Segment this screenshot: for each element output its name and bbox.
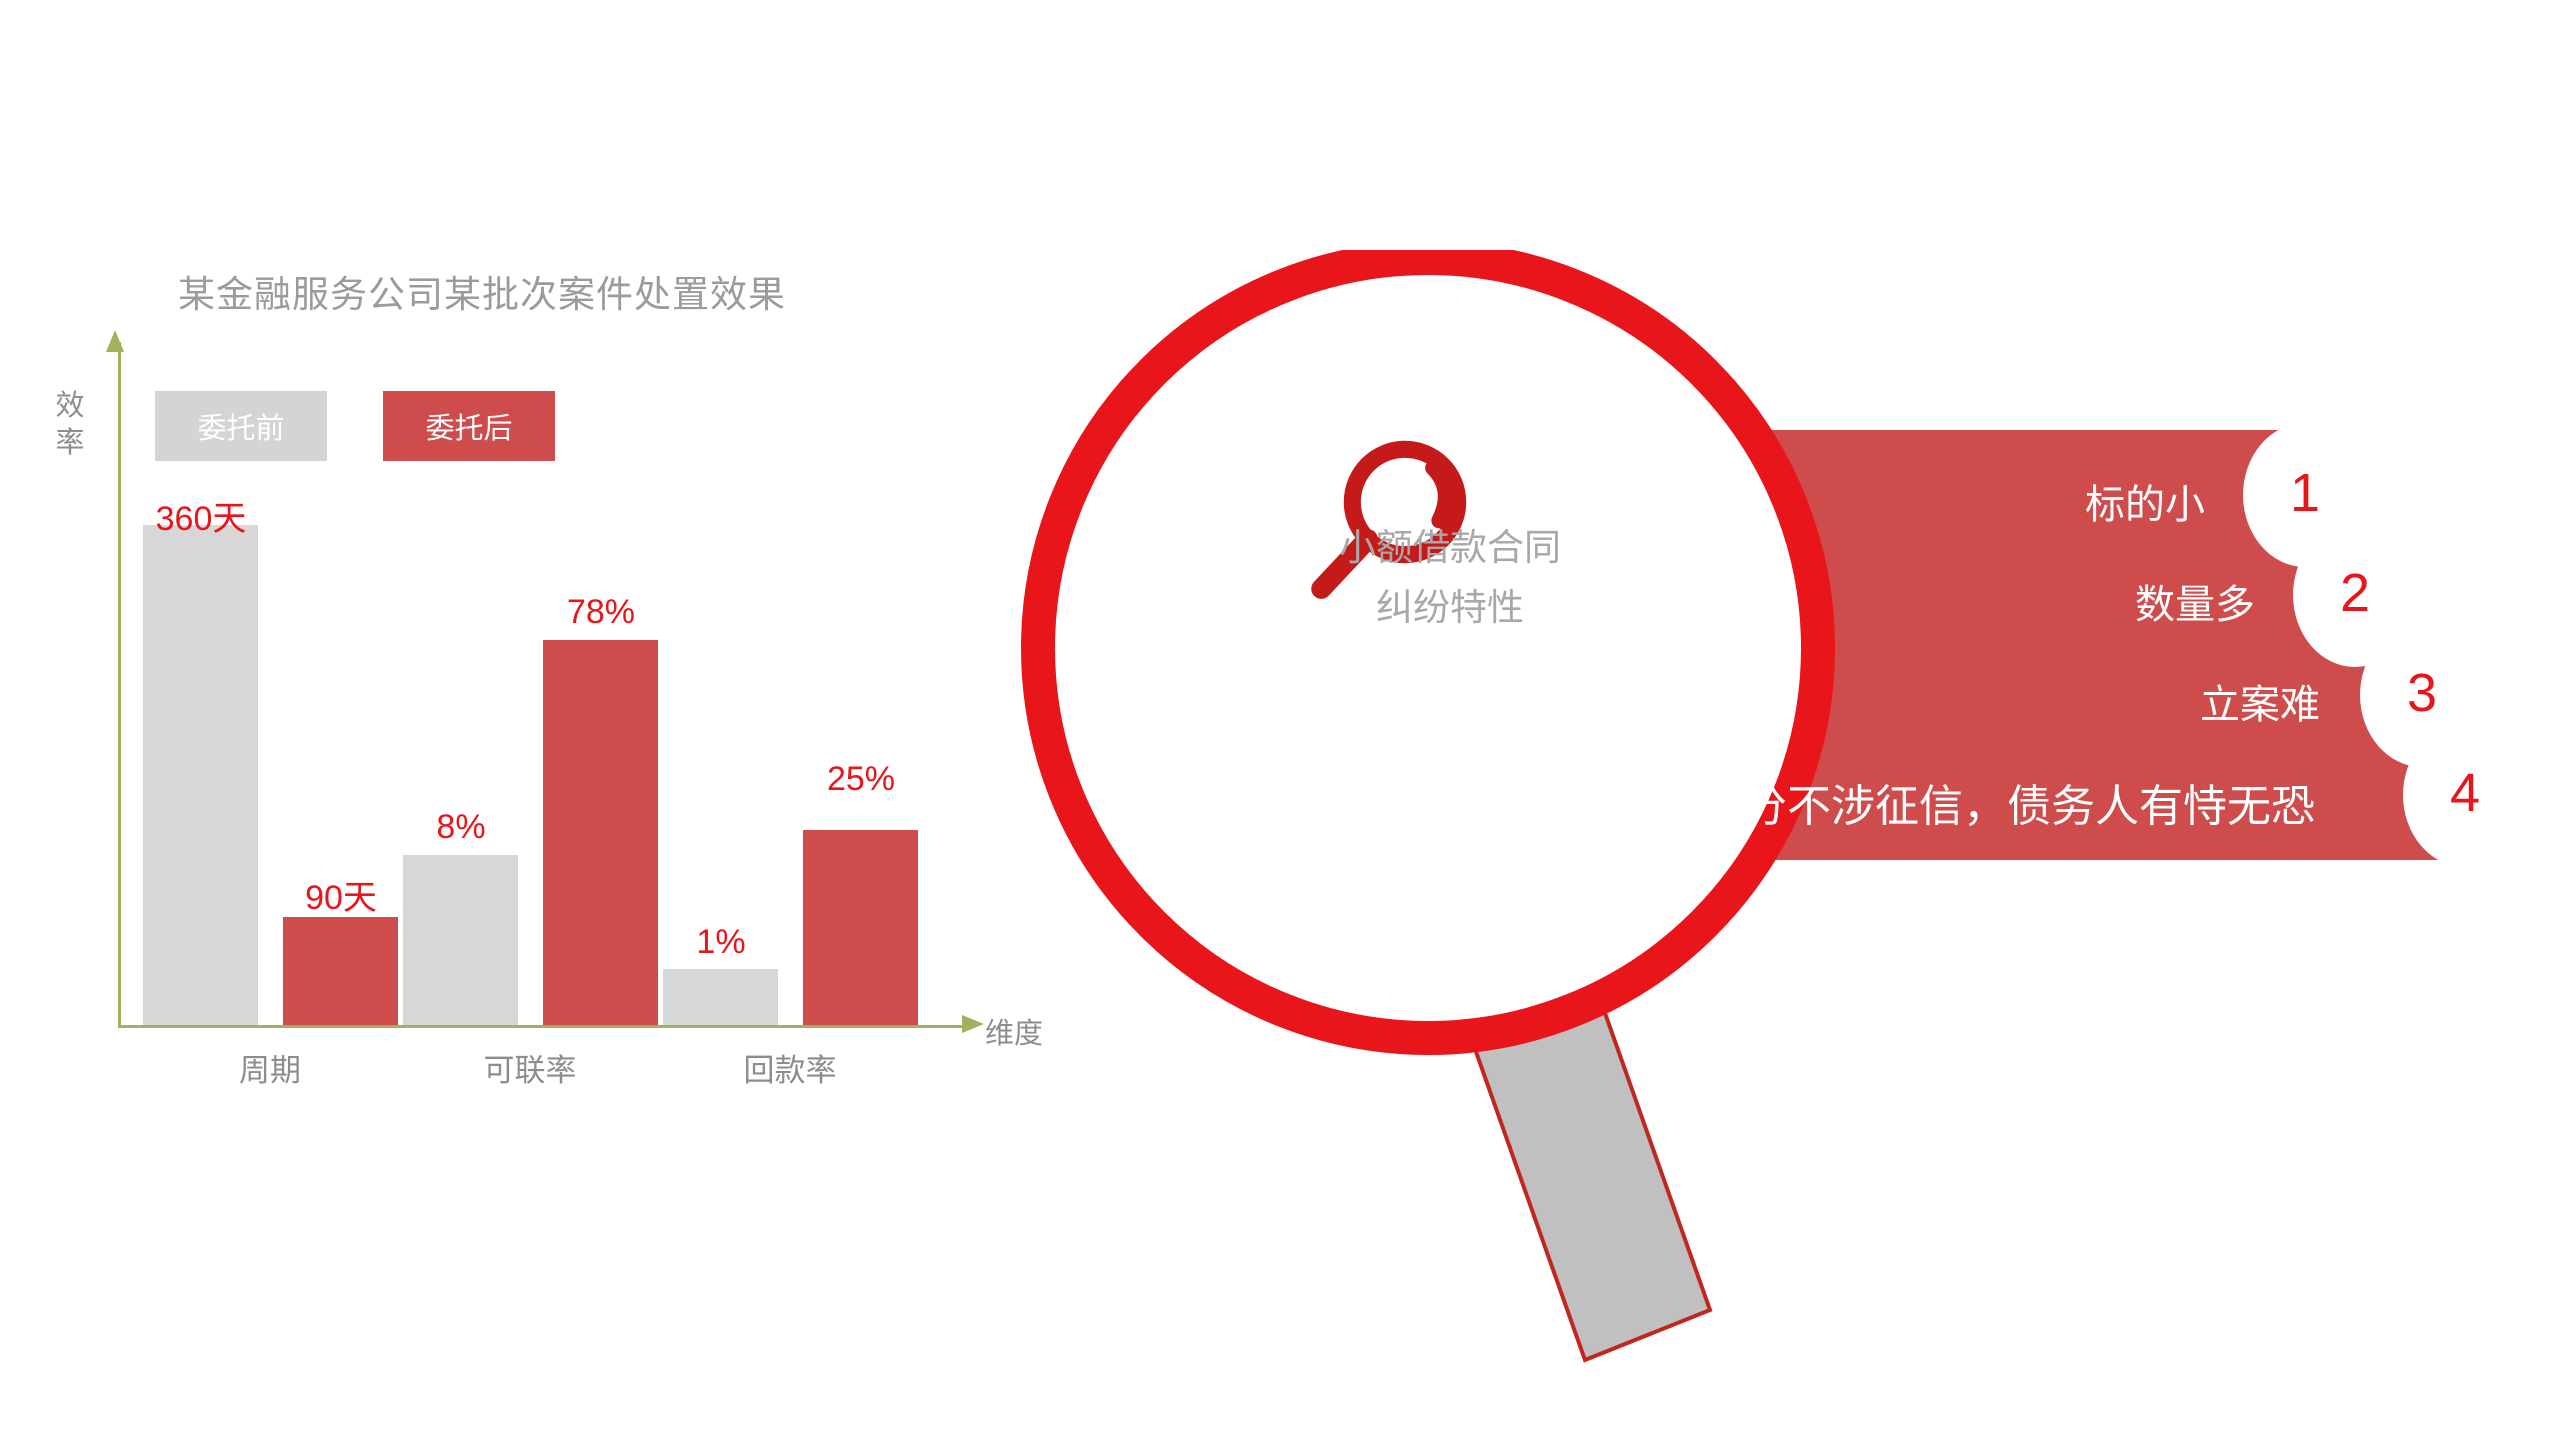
bar-after-0 [283,917,398,1025]
bar-before-1 [403,855,518,1025]
bar-after-1 [543,640,658,1025]
magnifier-diagram-panel: 小额借款合同 纠纷特性 标的小 1 数量多 2 立案难 3 大部分不涉征信，债务… [1010,250,2560,1440]
slide-canvas: 某金融服务公司某批次案件处置效果 效率 维度 委托前 委托后 360天 90天 … [0,0,2560,1440]
bar-chart-panel: 某金融服务公司某批次案件处置效果 效率 维度 委托前 委托后 360天 90天 … [0,0,1120,1180]
ribbon-label-4: 大部分不涉征信，债务人有恃无恐 [1655,770,2315,834]
ribbon-number-3: 3 [2382,662,2462,724]
magnifier-caption-line2: 纠纷特性 [1205,578,1695,638]
bar-label-before-0: 360天 [126,491,276,540]
y-axis-label: 效率 [52,388,88,462]
bar-label-before-2: 1% [646,923,796,962]
x-tick-label-1: 可联率 [455,1045,605,1090]
ribbon-number-2: 2 [2315,562,2395,624]
ribbon-number-4: 4 [2425,762,2505,824]
bar-label-after-0: 90天 [266,870,416,919]
chart-plot-area: 360天 90天 8% 78% 1% 25% 周期 可联率 回款率 [118,345,968,1025]
bar-before-0 [143,525,258,1025]
bar-before-2 [663,969,778,1025]
ribbon-label-2: 数量多 [2135,572,2255,630]
ribbon-number-1: 1 [2265,462,2345,524]
magnifier-caption: 小额借款合同 纠纷特性 [1205,518,1695,638]
chart-title: 某金融服务公司某批次案件处置效果 [178,264,786,318]
x-tick-label-2: 回款率 [715,1045,865,1090]
magnifier-caption-line1: 小额借款合同 [1205,518,1695,578]
bar-label-after-1: 78% [526,593,676,632]
bar-label-before-1: 8% [386,808,536,847]
bar-label-after-2: 25% [786,760,936,799]
x-tick-label-0: 周期 [195,1045,345,1090]
bar-after-2 [803,830,918,1025]
x-axis-line [118,1025,968,1028]
magnifier-lens-ring [1038,258,1818,1038]
magnifier-diagram-svg [1010,250,2560,1440]
ribbon-label-3: 立案难 [2200,672,2320,730]
ribbon-label-1: 标的小 [2085,472,2205,530]
